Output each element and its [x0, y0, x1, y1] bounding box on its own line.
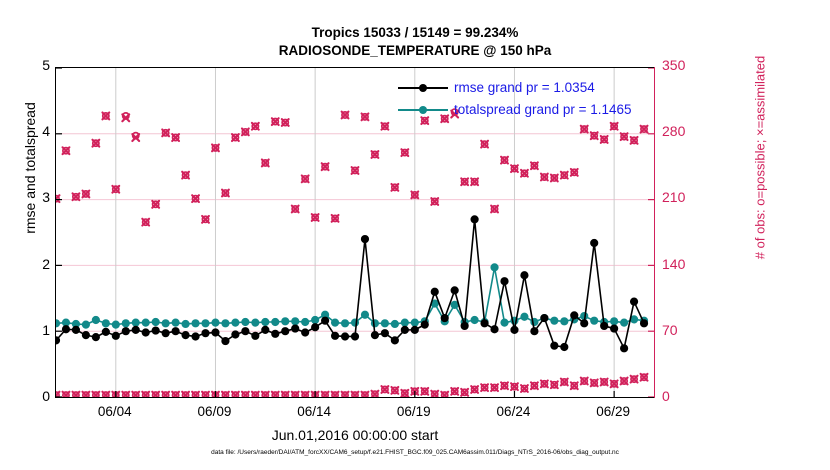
y-tick-right-0: 0	[662, 388, 708, 404]
chart-legend: rmse grand pr = 1.0354totalspread grand …	[392, 78, 654, 122]
x-tick-06-14: 06/14	[274, 404, 354, 419]
x-tick-06-19: 06/19	[374, 404, 454, 419]
right-axis-spine	[654, 67, 655, 398]
legend-label: rmse grand pr = 1.0354	[454, 78, 595, 98]
y-axis-right-ticks: 070140210280350	[662, 0, 708, 470]
y-tick-right-350: 350	[662, 57, 708, 73]
y-tick-right-70: 70	[662, 322, 708, 338]
y-axis-left-label: rmse and totalspread	[22, 58, 38, 278]
x-tick-06-29: 06/29	[573, 404, 653, 419]
legend-marker-filled-circle	[396, 78, 450, 98]
x-tick-06-04: 06/04	[75, 404, 155, 419]
x-tick-06-09: 06/09	[174, 404, 254, 419]
y-tick-right-210: 210	[662, 189, 708, 205]
legend-item-totalspread[interactable]: totalspread grand pr = 1.1465	[392, 100, 654, 120]
y-tick-right-140: 140	[662, 256, 708, 272]
legend-marker-filled-circle	[396, 100, 450, 120]
x-axis-label: Jun.01,2016 00:00:00 start	[0, 427, 710, 443]
figure-canvas: Tropics 15033 / 15149 = 99.234% RADIOSON…	[0, 0, 830, 470]
y-axis-right-label: # of obs: o=possible; ×=assimilated	[753, 0, 768, 318]
legend-item-rmse[interactable]: rmse grand pr = 1.0354	[392, 78, 654, 98]
y-tick-left-0: 0	[10, 388, 50, 404]
legend-label: totalspread grand pr = 1.1465	[454, 100, 632, 120]
y-tick-left-1: 1	[10, 322, 50, 338]
data-file-footer: data file: /Users/raeder/DAI/ATM_forcXX/…	[0, 449, 830, 456]
x-tick-06-24: 06/24	[473, 404, 553, 419]
y-tick-right-280: 280	[662, 123, 708, 139]
